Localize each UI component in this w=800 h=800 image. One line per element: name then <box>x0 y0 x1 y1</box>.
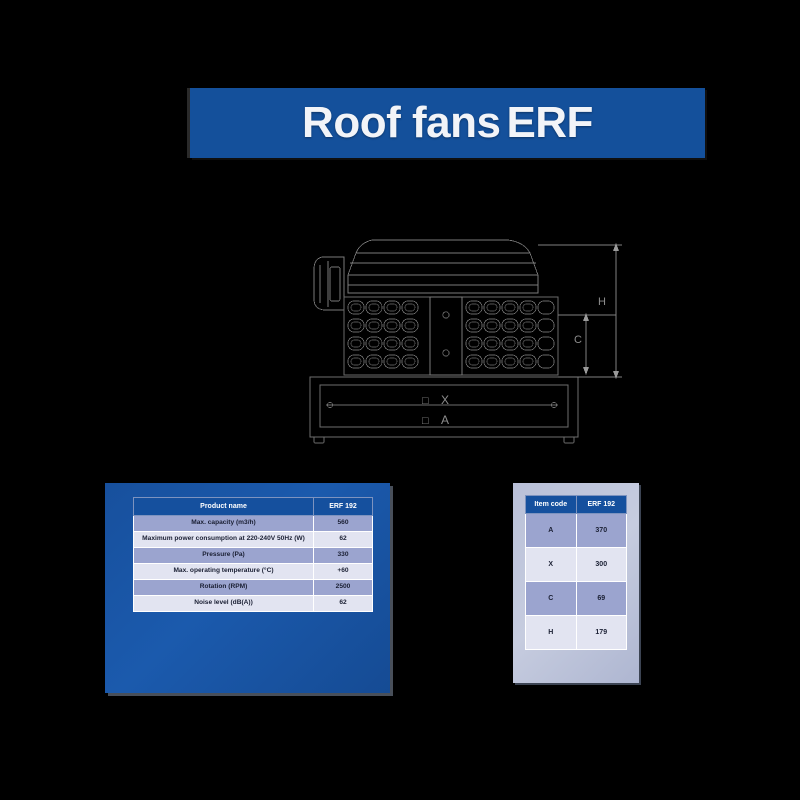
spec-label-noise: Noise level (dB(A)) <box>134 595 314 611</box>
code-value-h: 179 <box>576 616 627 650</box>
item-code-panel: Item code ERF 192 A 370 X 300 C 69 H 179 <box>513 483 639 683</box>
code-label-a: A <box>526 514 577 548</box>
table-row: Noise level (dB(A)) 62 <box>134 595 373 611</box>
table-row: Max. capacity (m3/h) 560 <box>134 516 373 532</box>
square-symbol-width-icon: □ <box>422 395 429 407</box>
item-code-table: Item code ERF 192 A 370 X 300 C 69 H 179 <box>525 495 627 650</box>
spec-label-power: Maximum power consumption at 220-240V 50… <box>134 532 314 548</box>
page-title-series: ERF <box>506 98 593 147</box>
fan-cowl <box>348 240 538 293</box>
square-symbol-depth-icon: □ <box>422 415 429 427</box>
spec-label-rotation: Rotation (RPM) <box>134 580 314 596</box>
table-header-row: Product name ERF 192 <box>134 498 373 516</box>
dimension-lines <box>538 243 622 379</box>
code-label-x: X <box>526 548 577 582</box>
header-banner: Roof fansERF <box>190 88 705 158</box>
spec-label-capacity: Max. capacity (m3/h) <box>134 516 314 532</box>
spec-value-pressure: 330 <box>314 548 373 564</box>
page-title: Roof fansERF <box>302 101 593 145</box>
table-row: Pressure (Pa) 330 <box>134 548 373 564</box>
dimension-label-width: X <box>441 393 449 407</box>
fan-grille-body <box>344 297 558 375</box>
table-row: H 179 <box>526 616 627 650</box>
grille-louvres-left <box>348 301 418 368</box>
spec-value-noise: 62 <box>314 595 373 611</box>
roof-fan-drawing-svg: H C X A □ □ <box>286 215 646 455</box>
fan-base-flange <box>310 377 578 443</box>
spec-value-capacity: 560 <box>314 516 373 532</box>
table-row: C 69 <box>526 582 627 616</box>
dimension-label-collar: C <box>574 334 582 346</box>
dimension-label-height: H <box>598 296 606 308</box>
table-header-row: Item code ERF 192 <box>526 496 627 514</box>
spec-label-temperature: Max. operating temperature (°C) <box>134 564 314 580</box>
spec-label-pressure: Pressure (Pa) <box>134 548 314 564</box>
spec-value-temperature: +60 <box>314 564 373 580</box>
table-row: X 300 <box>526 548 627 582</box>
fan-hinge-bracket <box>314 257 344 310</box>
table-row: Rotation (RPM) 2500 <box>134 580 373 596</box>
page-title-product: Roof fans <box>302 98 500 147</box>
grille-louvres-right <box>466 301 554 368</box>
specification-panel: Product name ERF 192 Max. capacity (m3/h… <box>105 483 390 693</box>
spec-header-label: Product name <box>134 498 314 516</box>
code-value-a: 370 <box>576 514 627 548</box>
code-header-label: Item code <box>526 496 577 514</box>
code-label-h: H <box>526 616 577 650</box>
spec-header-value: ERF 192 <box>314 498 373 516</box>
code-label-c: C <box>526 582 577 616</box>
code-header-value: ERF 192 <box>576 496 627 514</box>
product-technical-drawing: H C X A □ □ <box>286 215 646 455</box>
dimension-label-depth: A <box>441 413 449 427</box>
code-value-c: 69 <box>576 582 627 616</box>
table-row: A 370 <box>526 514 627 548</box>
table-row: Maximum power consumption at 220-240V 50… <box>134 532 373 548</box>
spec-value-rotation: 2500 <box>314 580 373 596</box>
specification-table: Product name ERF 192 Max. capacity (m3/h… <box>133 497 373 612</box>
code-value-x: 300 <box>576 548 627 582</box>
spec-value-power: 62 <box>314 532 373 548</box>
table-row: Max. operating temperature (°C) +60 <box>134 564 373 580</box>
